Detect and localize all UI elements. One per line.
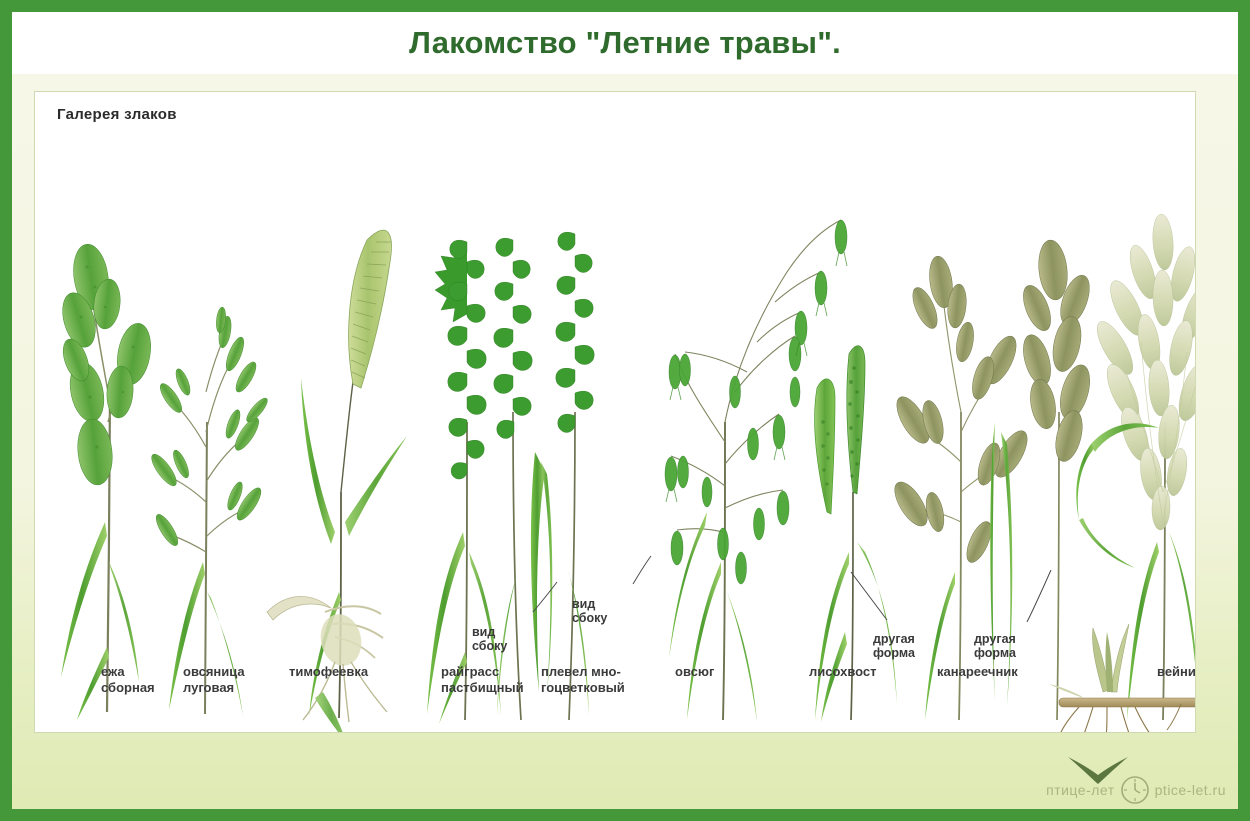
annotation-other-form-1: другая форма (873, 632, 915, 660)
caption-calamagrostis: вейник (1157, 664, 1196, 680)
annotation-side-view-1: вид сбоку (472, 625, 507, 653)
caption-alopecurus: лисохвост (809, 664, 877, 680)
plant-lolium (494, 232, 594, 720)
watermark: птице-лет ptice-let.ru (1046, 775, 1226, 805)
card-heading: Галерея злаков (57, 106, 177, 123)
caption-phleum: тимофеевка (289, 664, 368, 680)
phalaris-alt-form (1018, 239, 1095, 720)
caption-lolium: плевел мно- гоцветковый (541, 664, 625, 695)
plant-festuca (148, 307, 271, 716)
watermark-left-text: птице-лет (1046, 782, 1115, 798)
alopecurus-alt-form (815, 379, 835, 514)
caption-raygrass: райграсс пастбищный (441, 664, 524, 695)
annotation-leader-lines (533, 556, 1051, 622)
caption-row: ежа сборная овсяница луговая тимофеевка … (57, 664, 1196, 733)
annotation-side-view-2: вид сбоку (572, 597, 607, 625)
plant-phleum (267, 230, 407, 733)
clock-icon (1120, 775, 1150, 805)
plant-dactylis (57, 242, 155, 720)
content-panel: Галерея злаков вид сбоку вид сбоку друга… (12, 74, 1238, 809)
caption-festuca: овсяница луговая (183, 664, 245, 695)
grass-illustration (35, 92, 1196, 733)
title-band: Лакомство "Летние травы". (12, 12, 1238, 74)
poster-frame: Лакомство "Летние травы". (0, 0, 1250, 821)
watermark-right-text: ptice-let.ru (1155, 782, 1226, 798)
caption-avena: овсюг (675, 664, 714, 680)
page-title: Лакомство "Летние травы". (409, 25, 841, 61)
caption-phalaris: канареечник (937, 664, 1018, 680)
caption-dactylis: ежа сборная (101, 664, 155, 695)
annotation-other-form-2: другая форма (974, 632, 1016, 660)
illustration-card: Галерея злаков вид сбоку вид сбоку друга… (34, 91, 1196, 733)
poster-inner: Лакомство "Летние травы". (12, 12, 1238, 809)
